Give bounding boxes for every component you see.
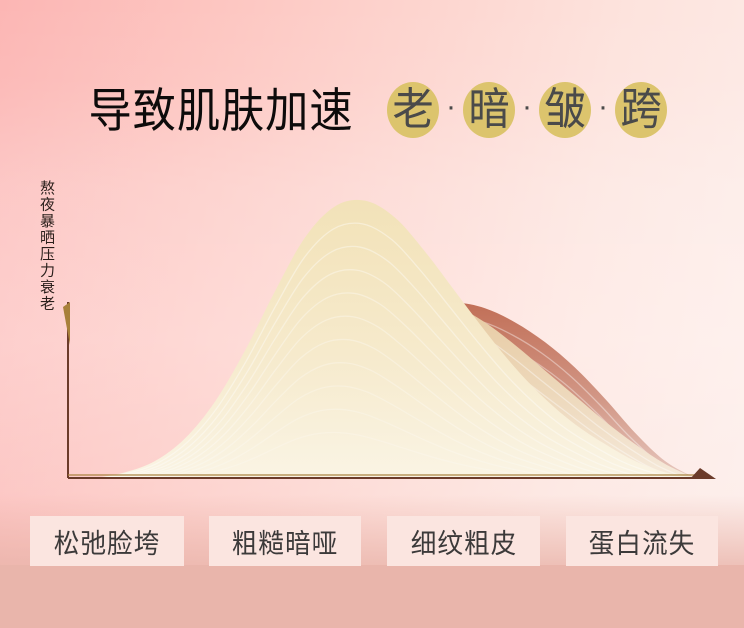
headline-keyword-1: 暗 bbox=[463, 81, 515, 139]
symptom-chip-row: 松弛脸垮 粗糙暗哑 细纹粗皮 蛋白流失 bbox=[0, 516, 744, 568]
symptom-chip-label: 蛋白流失 bbox=[589, 522, 695, 561]
symptom-chip[interactable]: 粗糙暗哑 bbox=[209, 516, 361, 566]
headline-keyword-0: 老 bbox=[387, 81, 439, 139]
symptom-chip[interactable]: 松弛脸垮 bbox=[30, 516, 184, 566]
headline-keyword-char: 老 bbox=[392, 88, 433, 132]
poster-root: 导致肌肤加速 老 · 暗 · 皱 · 跨 熬 bbox=[0, 0, 744, 628]
symptom-chip-label: 粗糙暗哑 bbox=[232, 522, 338, 561]
headline-keywords: 老 · 暗 · 皱 · 跨 bbox=[387, 81, 667, 139]
symptom-chip-label: 细纹粗皮 bbox=[410, 522, 516, 561]
symptom-chip[interactable]: 蛋白流失 bbox=[566, 516, 718, 566]
chart-y-axis-label: 熬夜暴晒压力衰老 bbox=[33, 180, 55, 312]
chart bbox=[0, 150, 744, 510]
headline-separator-0: · bbox=[439, 92, 463, 122]
chart-canvas bbox=[0, 150, 744, 510]
headline-separator-2: · bbox=[591, 92, 615, 122]
symptom-chip[interactable]: 细纹粗皮 bbox=[387, 516, 540, 566]
headline-keyword-char: 跨 bbox=[620, 88, 661, 132]
headline-keyword-2: 皱 bbox=[539, 81, 591, 139]
headline: 导致肌肤加速 老 · 暗 · 皱 · 跨 bbox=[0, 78, 744, 142]
headline-separator-1: · bbox=[515, 92, 539, 122]
symptom-chip-label: 松弛脸垮 bbox=[54, 522, 160, 561]
headline-keyword-char: 暗 bbox=[468, 88, 509, 132]
headline-main-text: 导致肌肤加速 bbox=[89, 87, 354, 134]
headline-keyword-3: 跨 bbox=[615, 81, 667, 139]
headline-keyword-char: 皱 bbox=[544, 88, 585, 132]
